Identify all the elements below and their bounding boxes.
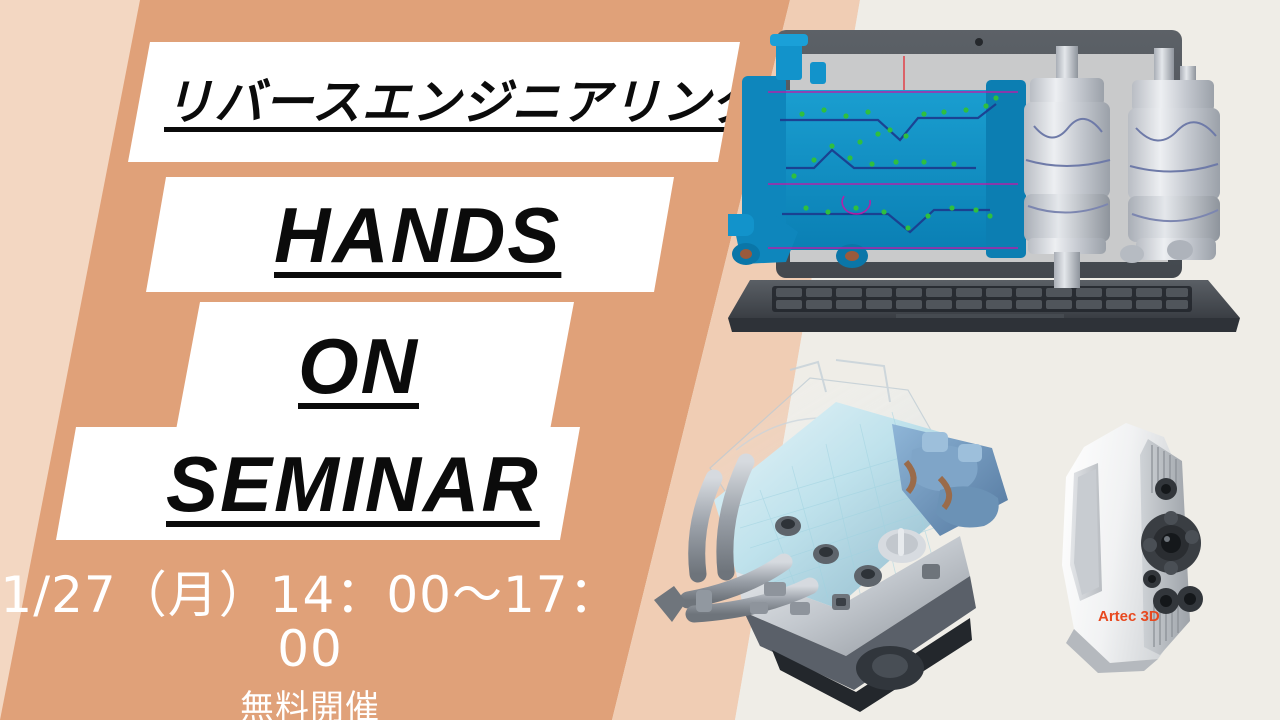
event-datetime: 1/27（月）14：00〜17：00	[0, 568, 620, 676]
banner-headline-seminar: SEMINAR	[56, 427, 580, 540]
event-fee: 無料開催	[0, 680, 620, 720]
poster-canvas: Artec 3D リバースエンジニアリング HANDS ON SEMINAR 1…	[0, 0, 1280, 720]
scanner-brand-label: Artec 3D	[1098, 608, 1160, 625]
banner-headline-on: ON	[176, 302, 574, 430]
banner-japanese-title: リバースエンジニアリング	[128, 42, 740, 162]
laptop-webcam-icon	[975, 38, 983, 46]
laptop-with-3d-scan-image	[728, 18, 1280, 368]
headline-hands-text: HANDS	[274, 196, 561, 274]
japanese-title-text: リバースエンジニアリング	[164, 78, 762, 127]
car-engine-3d-scan-image	[640, 350, 1060, 720]
headline-on-text: ON	[298, 327, 419, 405]
engine-pulley-hub	[872, 654, 908, 678]
headline-seminar-text: SEMINAR	[166, 445, 540, 523]
event-details: 1/27（月）14：00〜17：00 無料開催	[0, 568, 620, 720]
cad-cylinder-part-1	[1024, 46, 1110, 288]
laptop-trackpad	[896, 314, 1064, 318]
laptop-base-front	[728, 318, 1240, 332]
banner-headline-hands: HANDS	[146, 177, 674, 292]
scanner-handle-inner	[1074, 469, 1099, 595]
handheld-3d-scanner-image: Artec 3D	[1040, 415, 1250, 685]
